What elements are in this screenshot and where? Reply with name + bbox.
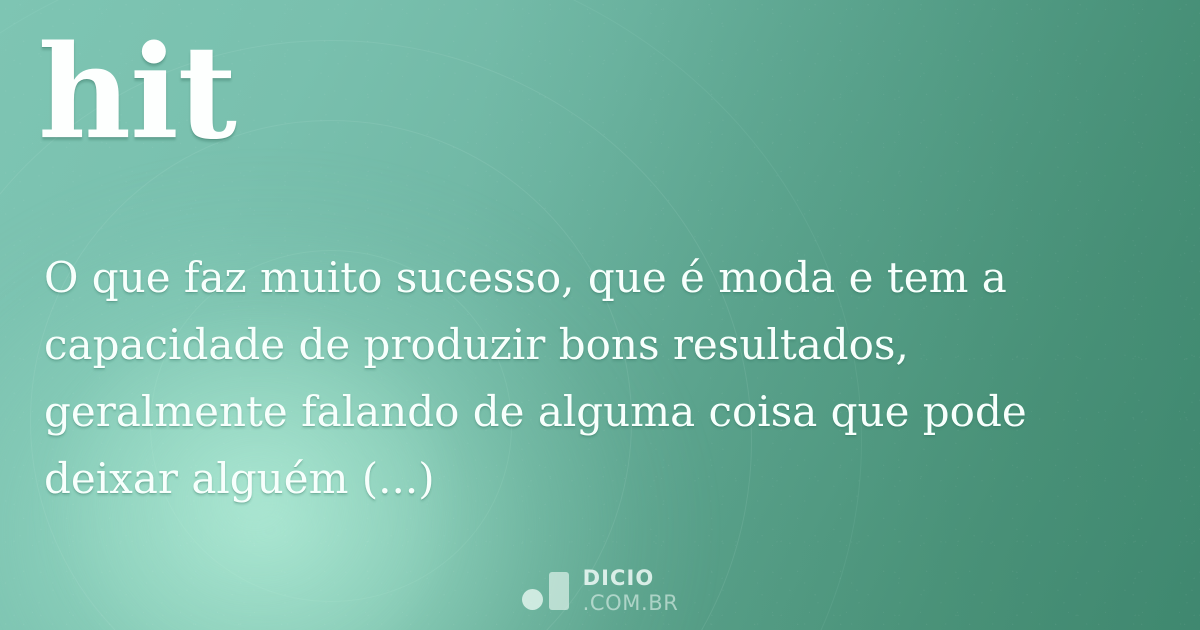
page-title: hit (38, 22, 236, 165)
logo-circle-icon (522, 589, 543, 610)
definition-card: hit O que faz muito sucesso, que é moda … (0, 0, 1200, 630)
dicio-logo-icon (522, 572, 569, 610)
card-content: hit O que faz muito sucesso, que é moda … (0, 0, 1200, 630)
logo-bar-icon (549, 572, 569, 610)
brand-lockup: DICIO .COM.BR (0, 568, 1200, 614)
definition-text: O que faz muito sucesso, que é moda e te… (44, 244, 1134, 512)
brand-name: DICIO (583, 568, 679, 589)
brand-wordmark: DICIO .COM.BR (583, 568, 679, 614)
brand-domain-suffix: .COM.BR (583, 593, 679, 614)
